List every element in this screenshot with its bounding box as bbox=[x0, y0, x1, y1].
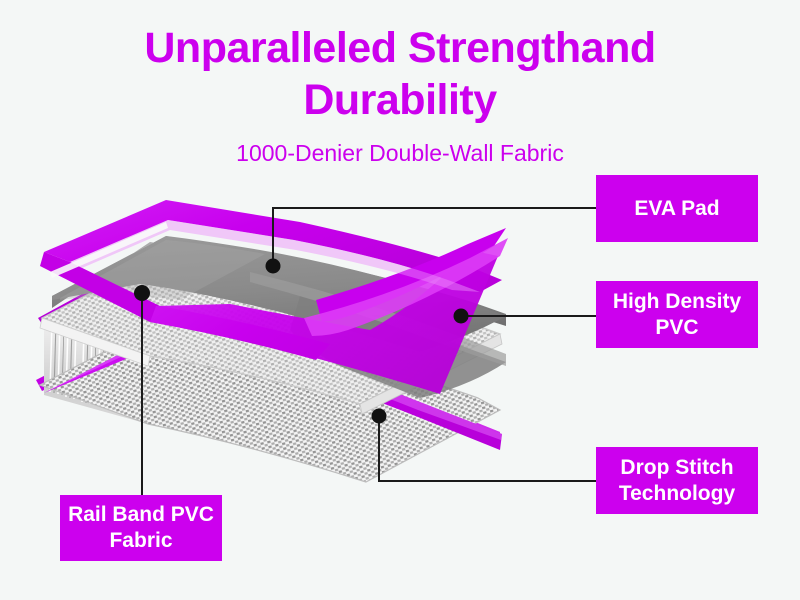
leader-dot-high-density-pvc bbox=[454, 309, 469, 324]
leader-eva-pad bbox=[266, 208, 597, 274]
callout-rail-band-pvc-fabric-label: Rail Band PVC Fabric bbox=[68, 502, 214, 554]
callout-eva-pad[interactable]: EVA Pad bbox=[596, 175, 758, 242]
page-subtitle: 1000-Denier Double-Wall Fabric bbox=[0, 140, 800, 167]
callout-eva-pad-label: EVA Pad bbox=[604, 196, 750, 222]
leader-high-density-pvc bbox=[454, 309, 597, 324]
page-title: Unparalleled Strengthand Durability bbox=[0, 22, 800, 126]
leader-dot-drop-stitch bbox=[372, 409, 387, 424]
leader-rail-band bbox=[134, 285, 150, 495]
rail-band-top-layer bbox=[40, 200, 508, 394]
leader-line-drop-stitch bbox=[379, 416, 596, 481]
top-pvc-skin-layer bbox=[20, 240, 540, 430]
callout-high-density-pvc-label: High Density PVC bbox=[602, 289, 752, 341]
layer-gap-highlight bbox=[50, 222, 168, 278]
callout-drop-stitch-technology[interactable]: Drop Stitch Technology bbox=[596, 447, 758, 514]
bottom-pvc-skin-layer bbox=[20, 300, 540, 510]
eva-pad-layer bbox=[52, 236, 506, 398]
callout-drop-stitch-technology-label: Drop Stitch Technology bbox=[604, 455, 750, 507]
callout-high-density-pvc[interactable]: High Density PVC bbox=[596, 281, 758, 348]
leader-line-eva-pad bbox=[273, 208, 596, 266]
header-block: Unparalleled Strengthand Durability 1000… bbox=[0, 22, 800, 167]
rail-band-bottom-layer bbox=[36, 246, 500, 446]
callout-rail-band-pvc-fabric[interactable]: Rail Band PVC Fabric bbox=[60, 495, 222, 561]
drop-stitch-threads-layer bbox=[30, 310, 520, 500]
leader-dot-rail-band bbox=[134, 285, 150, 301]
rail-band-bottom-front-edge bbox=[44, 325, 502, 450]
leader-dot-eva-pad bbox=[266, 259, 281, 274]
leader-drop-stitch bbox=[372, 409, 597, 482]
infographic-canvas: Unparalleled Strengthand Durability 1000… bbox=[0, 0, 800, 600]
